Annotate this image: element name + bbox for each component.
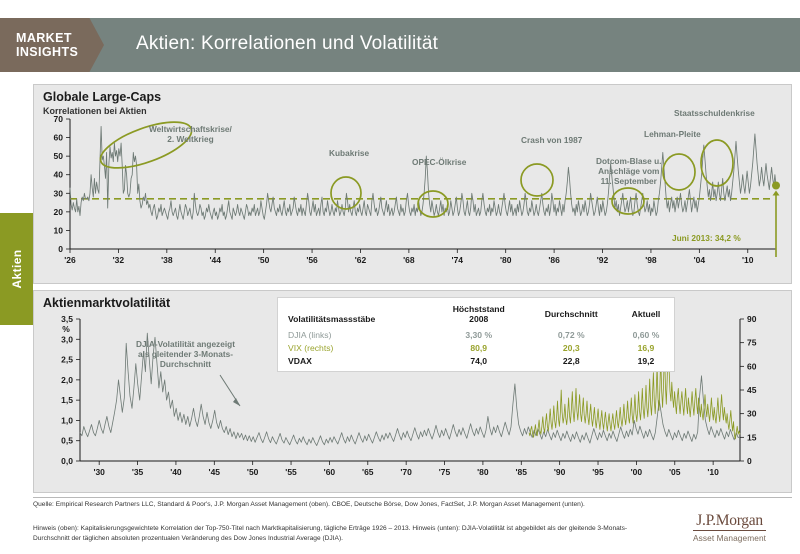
table-row: DJIA (links) 3,30 % 0,72 % 0,60 %: [278, 328, 674, 341]
svg-text:'65: '65: [362, 467, 374, 477]
svg-text:%: %: [62, 324, 70, 334]
svg-text:'50: '50: [247, 467, 259, 477]
svg-text:2,0: 2,0: [61, 375, 73, 385]
side-tab-aktien[interactable]: Aktien: [0, 213, 33, 325]
svg-text:40: 40: [54, 170, 64, 180]
annotation-staatsschuldenkrise: Staatsschuldenkrise: [674, 108, 755, 118]
footer-divider: [33, 497, 792, 498]
vdax-current: 19,2: [618, 354, 674, 367]
svg-text:2,5: 2,5: [61, 355, 73, 365]
svg-text:'74: '74: [452, 255, 464, 265]
volatility-stats-table: Volatilitätsmassstäbe Höchststand 2008 D…: [277, 297, 675, 372]
badge-line-2: INSIGHTS: [16, 45, 104, 59]
col-header-peak: Höchststand 2008: [433, 303, 525, 328]
vix-peak-2008: 80,9: [433, 341, 525, 354]
annotation-opec: OPEC-Ölkrise: [412, 157, 466, 167]
svg-text:'26: '26: [64, 255, 76, 265]
svg-text:20: 20: [54, 207, 64, 217]
djia-average: 0,72 %: [525, 328, 618, 341]
svg-text:60: 60: [747, 361, 757, 371]
svg-text:'55: '55: [285, 467, 297, 477]
current-value-label: Juni 2013: 34,2 %: [672, 233, 741, 243]
table-row: VIX (rechts) 80,9 20,3 16,9: [278, 341, 674, 354]
svg-text:75: 75: [747, 338, 757, 348]
svg-text:60: 60: [54, 133, 64, 143]
svg-text:'05: '05: [669, 467, 681, 477]
svg-text:0,0: 0,0: [61, 456, 73, 466]
vix-current: 16,9: [618, 341, 674, 354]
svg-text:'70: '70: [400, 467, 412, 477]
col-header-measures: Volatilitätsmassstäbe: [278, 303, 433, 328]
svg-text:70: 70: [54, 115, 64, 124]
svg-text:90: 90: [747, 314, 757, 324]
svg-text:'32: '32: [113, 255, 125, 265]
row-label-vdax: VDAX: [278, 354, 433, 367]
svg-text:3,0: 3,0: [61, 334, 73, 344]
svg-text:'45: '45: [209, 467, 221, 477]
svg-text:'60: '60: [324, 467, 336, 477]
annotation-djia-volatility: DJIA-Volatilität angezeigt als gleitende…: [136, 339, 235, 369]
annotation-kubakrise: Kubakrise: [329, 148, 369, 158]
vdax-peak-2008: 74,0: [433, 354, 525, 367]
svg-text:'44: '44: [209, 255, 221, 265]
svg-text:0: 0: [58, 244, 63, 254]
svg-text:3,5: 3,5: [61, 314, 73, 324]
svg-text:1,5: 1,5: [61, 395, 73, 405]
svg-text:'75: '75: [439, 467, 451, 477]
vix-average: 20,3: [525, 341, 618, 354]
page-title: Aktien: Korrelationen und Volatilität: [136, 33, 438, 55]
market-insights-badge: MARKET INSIGHTS: [0, 18, 104, 72]
svg-text:'30: '30: [93, 467, 105, 477]
djia-current: 0,60 %: [618, 328, 674, 341]
svg-text:15: 15: [747, 432, 757, 442]
correlations-panel: Globale Large-Caps Korrelationen bei Akt…: [33, 84, 792, 284]
djia-peak-2008: 3,30 %: [433, 328, 525, 341]
svg-text:30: 30: [54, 188, 64, 198]
side-tab-label: Aktien: [10, 239, 24, 299]
svg-text:'90: '90: [554, 467, 566, 477]
svg-text:'10: '10: [707, 467, 719, 477]
svg-text:'95: '95: [592, 467, 604, 477]
svg-text:'98: '98: [645, 255, 657, 265]
svg-text:'86: '86: [548, 255, 560, 265]
svg-text:1,0: 1,0: [61, 415, 73, 425]
logo-wordmark: J.P.Morgan: [693, 513, 766, 531]
table-header-row: Volatilitätsmassstäbe Höchststand 2008 D…: [278, 303, 674, 328]
row-label-vix: VIX (rechts): [278, 341, 433, 354]
svg-text:'50: '50: [258, 255, 270, 265]
logo-subtitle: Asset Management: [693, 533, 766, 543]
row-label-djia: DJIA (links): [278, 328, 433, 341]
vdax-average: 22,8: [525, 354, 618, 367]
svg-text:'35: '35: [132, 467, 144, 477]
annotation-crash-1987: Crash von 1987: [521, 135, 582, 145]
volatility-title: Aktienmarktvolatilität: [43, 296, 170, 310]
col-header-average: Durchschnitt: [525, 303, 618, 328]
svg-text:10: 10: [54, 225, 64, 235]
badge-line-1: MARKET: [16, 31, 104, 45]
table-row: VDAX 74,0 22,8 19,2: [278, 354, 674, 367]
svg-text:0: 0: [747, 456, 752, 466]
svg-text:30: 30: [747, 409, 757, 419]
annotation-lehman: Lehman-Pleite: [644, 129, 701, 139]
svg-text:45: 45: [747, 385, 757, 395]
svg-text:'04: '04: [694, 255, 706, 265]
correlations-plot: 010203040506070'26'32'38'44'50'56'62'68'…: [34, 115, 791, 283]
volatility-panel: Aktienmarktvolatilität 0,00,51,01,52,02,…: [33, 290, 792, 493]
svg-text:'38: '38: [161, 255, 173, 265]
correlations-title: Globale Large-Caps: [43, 90, 161, 104]
svg-text:'00: '00: [631, 467, 643, 477]
svg-text:'92: '92: [597, 255, 609, 265]
annotation-dotcom: Dotcom-Blase u. Anschläge vom 11. Septem…: [596, 156, 661, 186]
col-header-current: Aktuell: [618, 303, 674, 328]
svg-text:'40: '40: [170, 467, 182, 477]
svg-text:0,5: 0,5: [61, 436, 73, 446]
svg-text:'62: '62: [355, 255, 367, 265]
svg-text:'68: '68: [403, 255, 415, 265]
jpmorgan-logo: J.P.Morgan Asset Management: [693, 513, 766, 543]
svg-text:'80: '80: [477, 467, 489, 477]
footer-note: Hinweis (oben): Kapitalisierungsgewichte…: [33, 524, 663, 543]
svg-text:'80: '80: [500, 255, 512, 265]
svg-text:'85: '85: [516, 467, 528, 477]
annotation-weltwirtschaftskrise: Weltwirtschaftskrise/ 2. Weltkrieg: [149, 124, 232, 144]
svg-text:50: 50: [54, 151, 64, 161]
svg-text:'56: '56: [306, 255, 318, 265]
footer-source: Quelle: Empirical Research Partners LLC,…: [33, 500, 663, 510]
svg-text:'10: '10: [742, 255, 754, 265]
